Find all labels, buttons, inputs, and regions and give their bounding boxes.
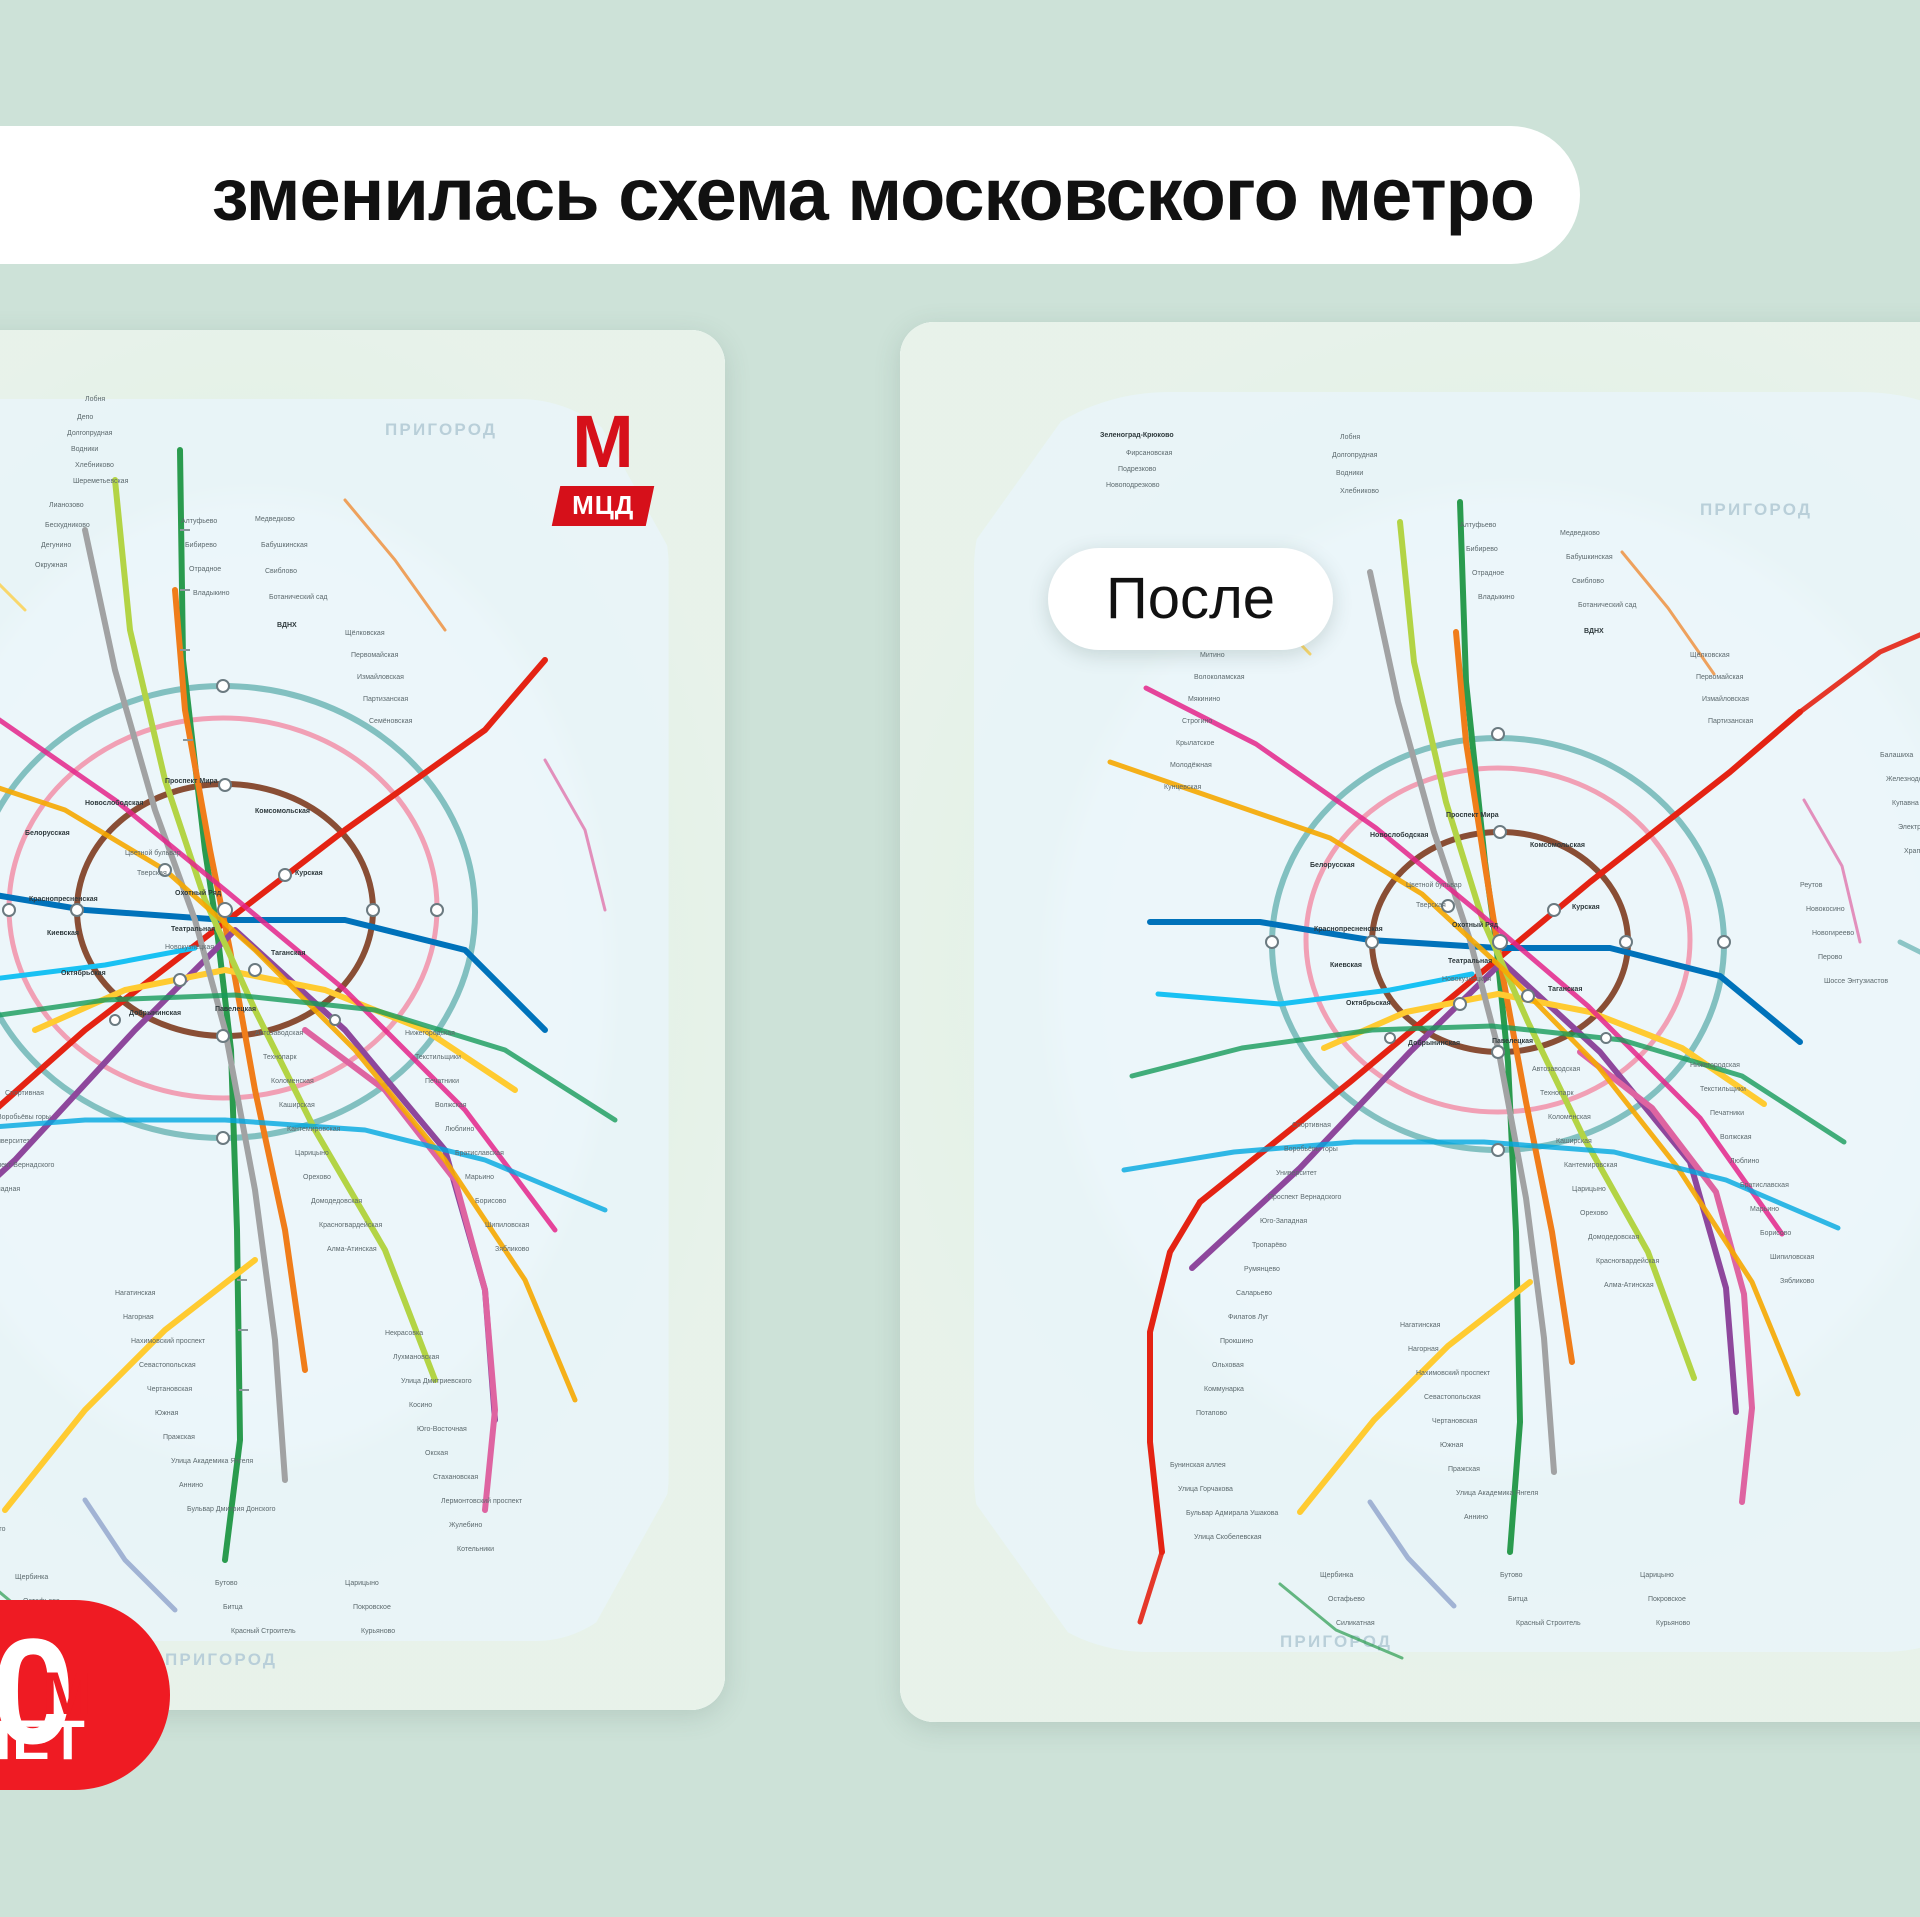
station-label-layer-before: Зеленоград‑Крюково Фирсановская Подрезко… xyxy=(0,330,725,1710)
title-banner: зменилась схема московского метро xyxy=(0,126,1580,264)
moscow-metro-m-icon: М xyxy=(543,410,663,474)
anniversary-inner: 90 М ЛЕТ xyxy=(0,1620,144,1770)
metro-map-before-card[interactable]: ПРИГОРОД ПРИГОРОД М МЦД xyxy=(0,330,725,1710)
after-badge-label: После xyxy=(1106,570,1275,628)
metro-map-after-card[interactable]: ПРИГОРОД ПРИГОРОД xyxy=(900,322,1920,1722)
metro-logo-group: М МЦД xyxy=(543,410,663,526)
after-badge[interactable]: После xyxy=(1048,548,1333,650)
station-label-layer-after: Зеленоград‑Крюково Фирсановская Подрезко… xyxy=(900,322,1920,1722)
anniversary-word: ЛЕТ xyxy=(0,1712,86,1768)
mcd-logo-icon: МЦД xyxy=(552,486,655,526)
page-title: зменилась схема московского метро xyxy=(212,158,1534,232)
